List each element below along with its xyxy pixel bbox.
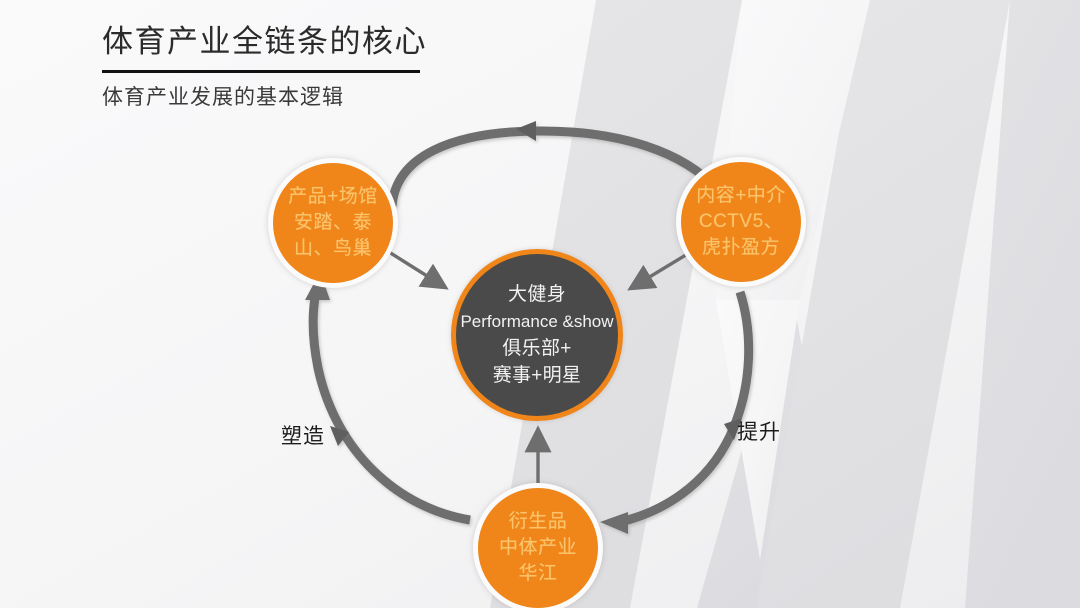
node-core-line-4: 赛事+明星 bbox=[493, 362, 582, 389]
slide-canvas: 体育产业全链条的核心 体育产业发展的基本逻辑 bbox=[0, 0, 1080, 608]
node-products-line-3: 山、鸟巢 bbox=[294, 236, 372, 262]
node-derivatives-line-2: 中体产业 bbox=[499, 535, 577, 561]
node-content-line-3: 虎扑盈方 bbox=[702, 235, 780, 261]
node-content-line-2: CCTV5、 bbox=[699, 209, 783, 235]
edge-label-upgrade: 提升 bbox=[737, 416, 781, 446]
node-derivatives[interactable]: 衍生品 中体产业 华江 bbox=[473, 483, 603, 608]
arc-left-derivatives-to-products bbox=[305, 272, 470, 520]
edge-label-shape: 塑造 bbox=[281, 420, 325, 450]
node-content-line-1: 内容+中介 bbox=[696, 183, 786, 209]
node-products-venues[interactable]: 产品+场馆 安踏、泰 山、鸟巢 bbox=[268, 158, 398, 288]
node-core-line-2: Performance &show bbox=[460, 308, 613, 335]
slide-header: 体育产业全链条的核心 体育产业发展的基本逻辑 bbox=[102, 20, 427, 113]
node-content-agency[interactable]: 内容+中介 CCTV5、 虎扑盈方 bbox=[676, 157, 806, 287]
node-products-line-2: 安踏、泰 bbox=[294, 210, 372, 236]
title-underline-rule bbox=[102, 70, 420, 73]
node-derivatives-line-1: 衍生品 bbox=[509, 509, 568, 535]
page-title: 体育产业全链条的核心 bbox=[102, 20, 427, 64]
node-core-line-3: 俱乐部+ bbox=[502, 335, 571, 362]
node-core-line-1: 大健身 bbox=[508, 281, 566, 308]
node-products-line-1: 产品+场馆 bbox=[288, 184, 378, 210]
node-derivatives-line-3: 华江 bbox=[518, 561, 557, 587]
page-subtitle: 体育产业发展的基本逻辑 bbox=[102, 83, 427, 113]
node-core-fitness[interactable]: 大健身 Performance &show 俱乐部+ 赛事+明星 bbox=[451, 249, 623, 421]
